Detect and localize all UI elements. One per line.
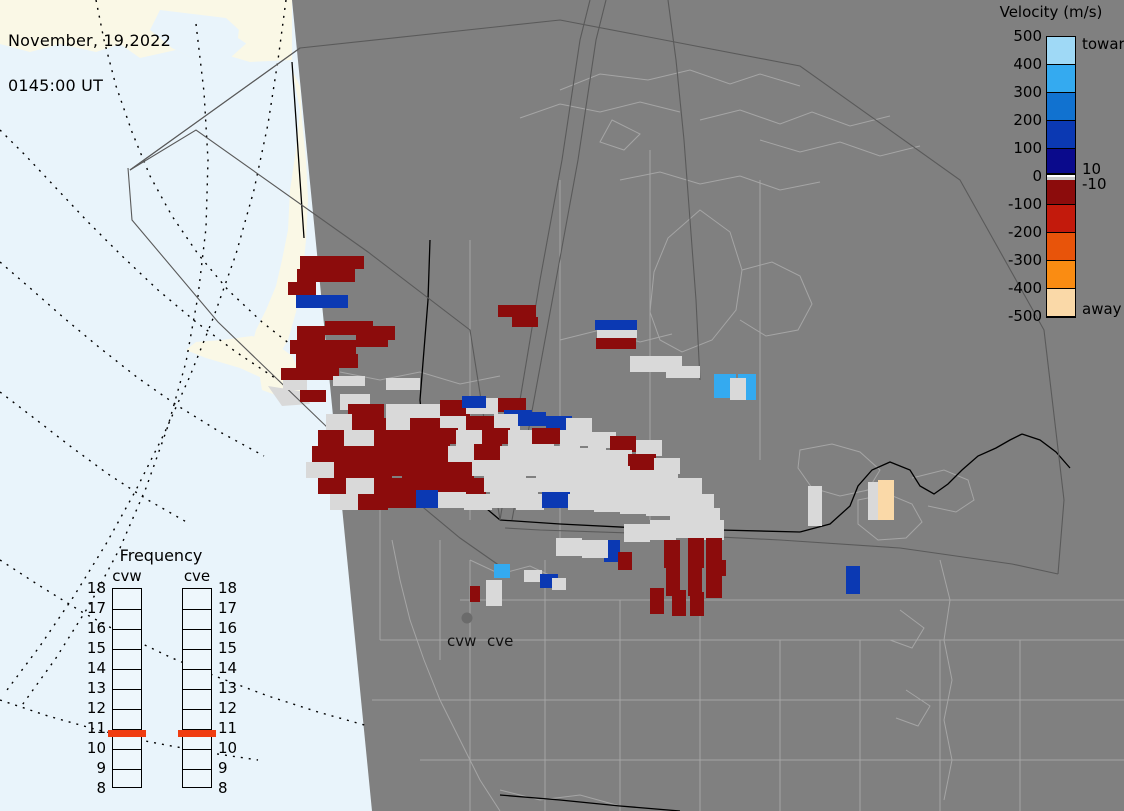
frequency-scale-label: 14: [86, 659, 106, 677]
velocity-cell: [552, 446, 580, 462]
velocity-cell: [516, 494, 544, 510]
colorbar-tick-label: 0: [1032, 167, 1042, 185]
velocity-cell: [498, 305, 536, 317]
velocity-cell: [510, 478, 538, 494]
velocity-cell: [348, 404, 384, 418]
velocity-cell: [486, 580, 502, 606]
velocity-cell: [472, 460, 500, 476]
velocity-cell: [552, 578, 566, 590]
colorbar-tick-label: -100: [1008, 195, 1042, 213]
colorbar-tick-label: 200: [1013, 111, 1042, 129]
velocity-cell: [878, 480, 894, 520]
frequency-rung: [113, 629, 141, 630]
colorbar-band: [1047, 180, 1075, 205]
velocity-cell: [297, 269, 355, 282]
colorbar-band: [1047, 233, 1075, 261]
frequency-rung: [183, 649, 211, 650]
frequency-scale-label: 10: [86, 739, 106, 757]
velocity-cell: [498, 462, 526, 478]
velocity-cell: [300, 256, 342, 269]
frequency-scale-label: 11: [86, 719, 106, 737]
velocity-cell: [664, 540, 680, 568]
velocity-cell: [556, 538, 582, 556]
frequency-scale-label: 13: [218, 679, 237, 697]
velocity-cell: [368, 446, 396, 462]
velocity-cell: [430, 428, 458, 444]
velocity-cell: [462, 396, 486, 408]
frequency-rung: [113, 709, 141, 710]
velocity-cell: [484, 476, 512, 492]
velocity-cell: [808, 486, 822, 526]
velocity-cell: [362, 462, 392, 478]
velocity-cell: [464, 494, 492, 510]
date-label: November, 19,2022: [8, 33, 171, 48]
velocity-cell: [438, 492, 466, 508]
velocity-cell: [330, 494, 358, 510]
velocity-cell: [318, 478, 348, 494]
frequency-marker-cvw: [108, 730, 146, 737]
colorbar-side-label: -10: [1082, 175, 1107, 193]
frequency-rung: [183, 769, 211, 770]
velocity-cell: [494, 414, 520, 430]
velocity-cell: [482, 428, 510, 444]
frequency-scale-label: 18: [218, 579, 237, 597]
colorbar-tick-label: -500: [1008, 307, 1042, 325]
velocity-cell: [326, 295, 348, 308]
velocity-cell: [498, 398, 526, 412]
velocity-cell: [604, 450, 632, 466]
frequency-ladder-cvw: [112, 588, 142, 788]
velocity-cell: [338, 446, 370, 462]
colorbar-band: [1047, 289, 1075, 317]
velocity-cell: [576, 464, 604, 480]
frequency-scale-label: 16: [218, 619, 237, 637]
velocity-cell: [344, 430, 376, 446]
colorbar-neutral-stripe: [1047, 177, 1075, 180]
frequency-scale-label: 13: [86, 679, 106, 697]
velocity-cell: [666, 366, 700, 378]
velocity-cell: [356, 333, 388, 347]
colorbar-gradient: [1046, 36, 1076, 318]
velocity-cell: [283, 380, 307, 390]
colorbar-band: [1047, 261, 1075, 289]
radar-map-figure: November, 19,2022 0145:00 UT cvw cve Vel…: [0, 0, 1124, 811]
frequency-column-label-cve: cve: [175, 567, 219, 585]
frequency-rung: [113, 609, 141, 610]
velocity-cell: [730, 378, 746, 400]
velocity-cell: [700, 520, 724, 540]
frequency-scale-label: 10: [218, 739, 237, 757]
velocity-cell: [582, 540, 608, 558]
velocity-cell: [490, 492, 518, 508]
frequency-scale-label: 18: [86, 579, 106, 597]
frequency-scale-label: 16: [86, 619, 106, 637]
velocity-cell: [290, 340, 356, 354]
velocity-cell: [536, 476, 564, 492]
velocity-cell: [458, 478, 486, 494]
velocity-cell: [620, 498, 648, 514]
velocity-cell: [318, 430, 348, 446]
colorbar-band: [1047, 37, 1075, 65]
velocity-cell: [288, 282, 316, 295]
velocity-cell: [326, 414, 352, 430]
velocity-cell: [624, 524, 650, 542]
frequency-scale-label: 14: [218, 659, 237, 677]
velocity-cell: [281, 368, 339, 380]
velocity-cell: [524, 460, 552, 476]
velocity-cell: [358, 494, 388, 510]
frequency-scale-label: 15: [218, 639, 237, 657]
site-label-cvw: cvw: [447, 632, 476, 650]
velocity-cell: [296, 295, 326, 308]
frequency-scale-label: 12: [218, 699, 237, 717]
velocity-cell: [334, 462, 364, 478]
velocity-cell: [346, 478, 376, 494]
frequency-scale-label: 9: [86, 759, 106, 777]
frequency-scale-label: 15: [86, 639, 106, 657]
velocity-cell: [610, 436, 636, 452]
colorbar-tick-label: -400: [1008, 279, 1042, 297]
colorbar-band: [1047, 205, 1075, 233]
velocity-cell: [562, 478, 590, 494]
colorbar-tick-label: -200: [1008, 223, 1042, 241]
velocity-cell: [394, 444, 424, 460]
velocity-cell: [325, 321, 373, 335]
velocity-cell: [594, 496, 622, 512]
velocity-cell: [300, 390, 326, 402]
colorbar-tick-label: 100: [1013, 139, 1042, 157]
velocity-cell: [618, 552, 632, 570]
velocity-cell: [296, 354, 358, 368]
velocity-cell: [297, 326, 325, 340]
timestamp-block: November, 19,2022 0145:00 UT: [8, 3, 171, 123]
frequency-rung: [183, 609, 211, 610]
frequency-scale-label: 17: [218, 599, 237, 617]
velocity-cell: [550, 462, 578, 478]
frequency-scale-label: 8: [218, 779, 228, 797]
frequency-scale-label: 17: [86, 599, 106, 617]
velocity-cell: [416, 490, 438, 508]
velocity-cell: [402, 476, 432, 492]
velocity-cell: [672, 590, 686, 616]
velocity-cell: [628, 454, 656, 470]
velocity-cell: [688, 566, 702, 596]
frequency-rung: [113, 689, 141, 690]
velocity-cell: [566, 418, 592, 432]
site-label-cve: cve: [487, 632, 513, 650]
frequency-ladder-cve: [182, 588, 212, 788]
velocity-cell: [466, 416, 496, 430]
frequency-rung: [113, 769, 141, 770]
frequency-rung: [183, 629, 211, 630]
frequency-panel-title: Frequency: [86, 546, 236, 565]
velocity-cell: [404, 430, 432, 446]
velocity-cell: [706, 572, 722, 598]
velocity-cell: [636, 440, 662, 456]
frequency-rung: [183, 709, 211, 710]
frequency-scale-label: 12: [86, 699, 106, 717]
velocity-cell: [374, 430, 404, 446]
velocity-cell: [690, 592, 704, 616]
velocity-cell: [448, 446, 476, 462]
frequency-scale-label: 11: [218, 719, 237, 737]
velocity-cell: [595, 320, 637, 330]
velocity-cell: [650, 588, 664, 614]
velocity-colorbar: Velocity (m/s) 5004003002001000-100-200-…: [970, 0, 1124, 340]
velocity-cell: [676, 518, 702, 538]
velocity-cell: [386, 378, 420, 390]
frequency-rung: [183, 749, 211, 750]
colorbar-band: [1047, 65, 1075, 93]
velocity-cell: [688, 538, 704, 568]
velocity-cell: [446, 462, 474, 478]
velocity-cell: [670, 504, 696, 520]
velocity-cell: [518, 412, 546, 426]
colorbar-tick-label: 400: [1013, 55, 1042, 73]
velocity-cell: [846, 566, 860, 594]
velocity-cell: [386, 492, 416, 508]
colorbar-tick-label: -300: [1008, 251, 1042, 269]
velocity-cell: [526, 444, 554, 460]
velocity-cell: [524, 570, 542, 582]
frequency-rung: [183, 689, 211, 690]
velocity-cell: [596, 338, 636, 349]
velocity-cell: [650, 520, 676, 540]
velocity-cell: [312, 446, 340, 462]
velocity-cell: [532, 428, 560, 444]
velocity-cell: [418, 460, 448, 476]
time-label: 0145:00 UT: [8, 78, 171, 93]
velocity-cell: [602, 466, 630, 482]
colorbar-title: Velocity (m/s): [978, 3, 1124, 21]
frequency-scale-label: 8: [86, 779, 106, 797]
velocity-cell: [422, 444, 450, 460]
velocity-cell: [612, 482, 640, 498]
velocity-cell: [654, 458, 680, 474]
velocity-cell: [430, 476, 460, 492]
colorbar-side-label: toward: [1082, 35, 1124, 53]
colorbar-tick-label: 300: [1013, 83, 1042, 101]
frequency-rung: [113, 749, 141, 750]
velocity-cell: [578, 448, 606, 464]
velocity-cell: [597, 330, 637, 338]
velocity-cell: [646, 500, 674, 516]
colorbar-band: [1047, 93, 1075, 121]
colorbar-band: [1047, 149, 1075, 174]
frequency-rung: [183, 669, 211, 670]
frequency-rung: [113, 649, 141, 650]
velocity-cell: [333, 376, 365, 386]
velocity-cell: [560, 430, 590, 446]
velocity-cell: [390, 460, 420, 476]
frequency-scale-label: 9: [218, 759, 228, 777]
velocity-cell: [374, 478, 404, 494]
frequency-panel: Frequency cvw18171615141312111098cve1817…: [86, 546, 236, 804]
velocity-cell: [470, 586, 480, 602]
velocity-cell: [342, 256, 364, 269]
velocity-cell: [542, 492, 570, 508]
frequency-marker-cve: [178, 730, 216, 737]
velocity-cell: [508, 430, 534, 446]
velocity-cell: [494, 564, 510, 578]
colorbar-side-label: away: [1082, 300, 1122, 318]
colorbar-tick-label: 500: [1013, 27, 1042, 45]
velocity-cell: [474, 444, 502, 460]
velocity-cell: [568, 494, 596, 510]
velocity-cell: [512, 317, 538, 327]
frequency-column-label-cvw: cvw: [105, 567, 149, 585]
frequency-rung: [113, 669, 141, 670]
velocity-cell: [306, 462, 336, 478]
velocity-cell: [588, 480, 616, 496]
velocity-cell: [500, 446, 528, 462]
colorbar-band: [1047, 121, 1075, 149]
velocity-cell: [456, 430, 484, 446]
